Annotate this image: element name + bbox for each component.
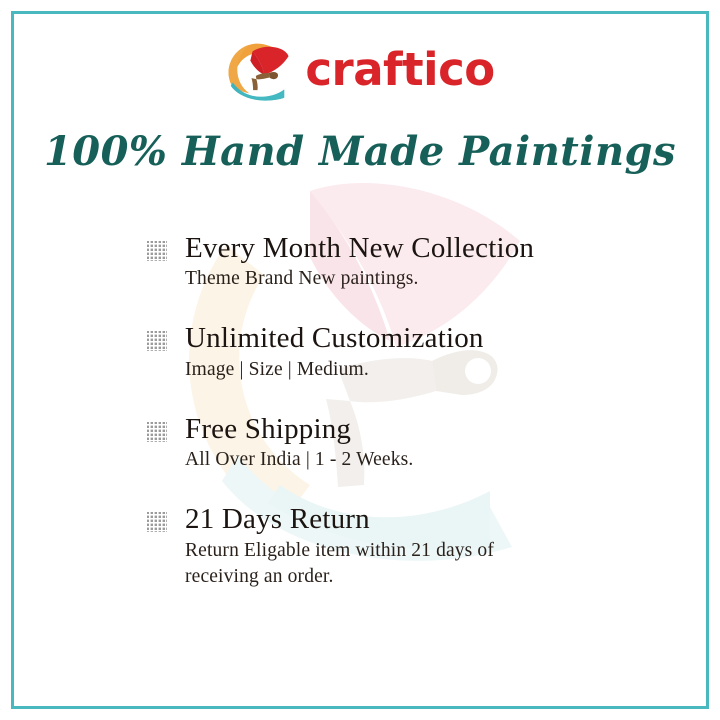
- feature-subtitle: All Over India | 1 - 2 Weeks.: [185, 447, 616, 473]
- brand-logo: craftico: [0, 34, 720, 108]
- list-item: 21 Days Return Return Eligable item with…: [146, 503, 616, 589]
- brand-wordmark: craftico: [305, 47, 494, 95]
- woven-square-bullet-icon: [146, 240, 168, 262]
- feature-subtitle: Theme Brand New paintings.: [185, 266, 616, 292]
- page-title: 100% Hand Made Paintings: [0, 128, 720, 175]
- list-item: Unlimited Customization Image | Size | M…: [146, 322, 616, 382]
- woven-square-bullet-icon: [146, 511, 168, 533]
- craftico-c-paintbrush-logo-icon: [225, 41, 291, 101]
- feature-list: Every Month New Collection Theme Brand N…: [146, 232, 616, 589]
- promo-banner: craftico 100% Hand Made Paintings: [0, 0, 720, 720]
- feature-title: Unlimited Customization: [185, 322, 616, 354]
- list-item: Every Month New Collection Theme Brand N…: [146, 232, 616, 292]
- list-item: Free Shipping All Over India | 1 - 2 Wee…: [146, 413, 616, 473]
- feature-title: Every Month New Collection: [185, 232, 616, 264]
- feature-title: Free Shipping: [185, 413, 616, 445]
- woven-square-bullet-icon: [146, 330, 168, 352]
- feature-subtitle: Image | Size | Medium.: [185, 357, 616, 383]
- woven-square-bullet-icon: [146, 421, 168, 443]
- feature-subtitle: Return Eligable item within 21 days of r…: [185, 538, 535, 590]
- feature-title: 21 Days Return: [185, 503, 616, 535]
